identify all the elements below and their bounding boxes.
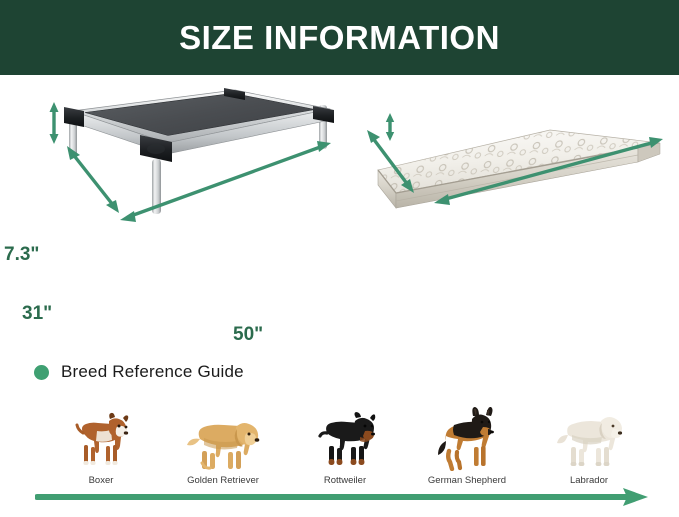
filled-circle-icon xyxy=(34,365,49,380)
labrador-body xyxy=(557,417,622,466)
breed-label-german-shepherd: German Shepherd xyxy=(428,475,506,486)
pad-depth-arrowhead-top xyxy=(367,130,380,143)
product-dimension-diagrams: 7.3" 31" 50" xyxy=(0,75,679,350)
depth-arrow-line xyxy=(72,153,113,205)
boxer-body xyxy=(77,413,128,465)
german-shepherd-body xyxy=(438,407,494,469)
breed-item-golden-retriever: Golden Retriever xyxy=(167,396,279,486)
bed-depth-label: 31" xyxy=(22,304,52,323)
breed-progression-arrow xyxy=(35,488,649,511)
golden-retriever-body xyxy=(187,423,259,469)
height-arrowhead-bottom xyxy=(50,134,59,144)
page-title: SIZE INFORMATION xyxy=(179,19,500,57)
breed-item-german-shepherd: German Shepherd xyxy=(411,396,523,486)
breed-label-labrador: Labrador xyxy=(570,475,608,486)
rottweiler-body xyxy=(320,412,375,465)
bed-height-label: 7.3" xyxy=(4,245,39,264)
german-shepherd-photo xyxy=(436,403,498,471)
rottweiler-photo xyxy=(313,403,377,471)
mattress-pad-diagram: 2" 31" 50" xyxy=(350,75,679,350)
boxer-photo xyxy=(69,403,133,471)
pad-height-arrowhead-top xyxy=(386,113,394,122)
breed-label-golden-retriever: Golden Retriever xyxy=(187,475,259,486)
mattress-pad-illustration xyxy=(350,75,679,350)
width-arrowhead-right xyxy=(317,141,331,152)
width-arrowhead-left xyxy=(120,211,136,222)
breed-item-rottweiler: Rottweiler xyxy=(289,396,401,486)
size-information-infographic: SIZE INFORMATION xyxy=(0,0,679,517)
breed-guide-heading: Breed Reference Guide xyxy=(61,362,244,382)
labrador-photo xyxy=(554,403,624,471)
elevated-bed-illustration xyxy=(0,75,350,350)
breed-label-boxer: Boxer xyxy=(89,475,114,486)
breed-label-rottweiler: Rottweiler xyxy=(324,475,366,486)
breed-guide-header: Breed Reference Guide xyxy=(34,362,244,382)
elevated-bed-diagram: 7.3" 31" 50" xyxy=(0,75,350,350)
height-arrowhead-top xyxy=(50,102,59,112)
golden-retriever-photo xyxy=(184,403,262,471)
depth-arrowhead-bottom xyxy=(106,200,119,213)
breed-list: Boxer xyxy=(45,396,645,486)
breed-item-labrador: Labrador xyxy=(533,396,645,486)
breed-reference-guide-section: Breed Reference Guide xyxy=(0,350,679,517)
page-header-banner: SIZE INFORMATION xyxy=(0,0,679,75)
breed-item-boxer: Boxer xyxy=(45,396,157,486)
bed-width-label: 50" xyxy=(233,325,263,344)
pad-height-arrowhead-bottom xyxy=(386,132,394,141)
